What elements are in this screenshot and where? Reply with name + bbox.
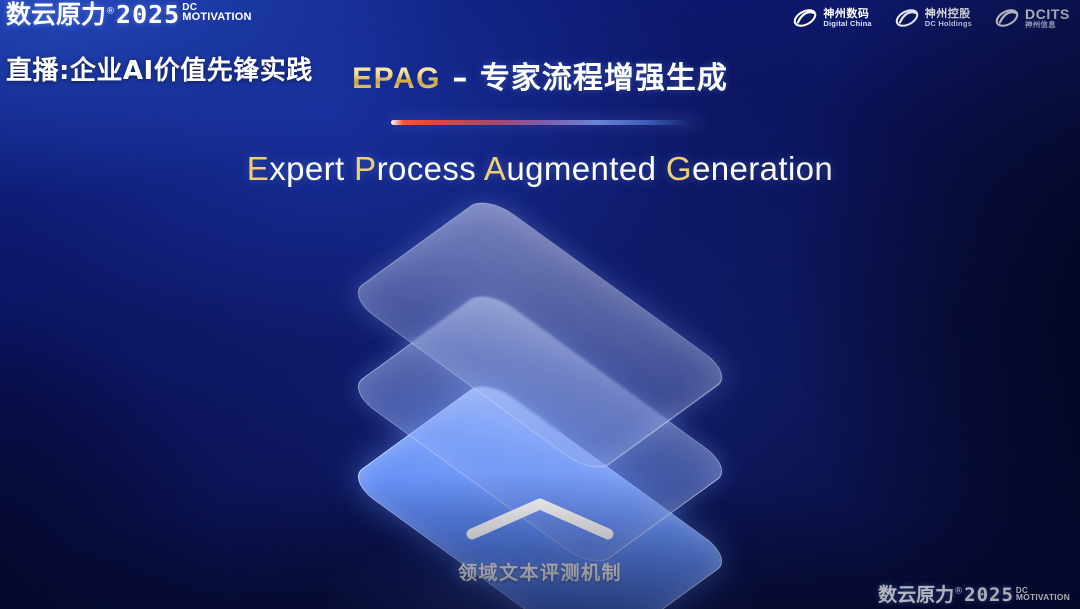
registered-mark-icon: ®: [954, 587, 963, 597]
subtitle-word-augmented: ugmented: [506, 150, 666, 187]
partner-logo-dcits: DCITS 神州信息: [994, 5, 1070, 31]
subtitle-cap-g: G: [666, 150, 692, 187]
partner-logo-group: 神州数码 Digital China 神州控股 DC Holdings: [792, 5, 1070, 31]
partner-name-en: Digital China: [823, 20, 871, 28]
watermark-motivation-text: MOTIVATION: [1016, 594, 1070, 602]
partner-logo-text: 神州数码 Digital China: [823, 8, 871, 27]
brand-dc-motivation: DC MOTIVATION: [182, 3, 251, 22]
diagram-top-layer-label: 领域文本评测机制: [290, 558, 790, 585]
watermark-year: 2025: [964, 586, 1014, 605]
slide-title: EPAG – 专家流程增强生成: [0, 53, 1080, 97]
partner-logo-text: 神州控股 DC Holdings: [925, 8, 972, 27]
partner-logo-dc-holdings: 神州控股 DC Holdings: [894, 5, 972, 31]
subtitle-word-expert: xpert: [269, 150, 354, 187]
slide-canvas: 数云原力® 2025 DC MOTIVATION 直播:企业AI价值先锋实践 神…: [0, 0, 1080, 609]
chevron-up-icon: [464, 496, 616, 547]
title-rest-cn: – 专家流程增强生成: [441, 61, 728, 96]
partner-name-cn: 神州信息: [1025, 21, 1070, 29]
partner-logo-digital-china: 神州数码 Digital China: [792, 5, 871, 31]
swirl-icon: [994, 5, 1020, 31]
subtitle-word-generation: eneration: [692, 150, 833, 187]
title-accent-epag: EPAG: [352, 62, 441, 95]
layer-stack-diagram: 领域文本评测机制 Dynamic MOE 长文本记忆 三类语义建模模块: [290, 228, 790, 580]
partner-logo-text: DCITS 神州信息: [1025, 7, 1070, 30]
brand-logo-top-left: 数云原力® 2025 DC MOTIVATION: [6, 2, 252, 27]
partner-name-en: DC Holdings: [925, 20, 972, 28]
brand-year: 2025: [116, 2, 180, 27]
subtitle-cap-p: P: [354, 150, 376, 187]
watermark-name-cn: 数云原力®: [878, 586, 963, 605]
brand-watermark-bottom-right: 数云原力® 2025 DC MOTIVATION: [878, 586, 1070, 605]
brand-motivation-text: MOTIVATION: [182, 12, 251, 22]
title-divider: [391, 120, 701, 125]
swirl-icon: [792, 5, 818, 31]
registered-mark-icon: ®: [106, 7, 115, 17]
slide-subtitle: Expert Process Augmented Generation: [0, 150, 1080, 188]
subtitle-cap-e: E: [247, 150, 269, 187]
brand-name-cn: 数云原力®: [6, 2, 115, 27]
subtitle-word-process: rocess: [377, 150, 484, 187]
watermark-dc-motivation: DC MOTIVATION: [1016, 587, 1070, 602]
swirl-icon: [894, 5, 920, 31]
subtitle-cap-a: A: [484, 150, 506, 187]
